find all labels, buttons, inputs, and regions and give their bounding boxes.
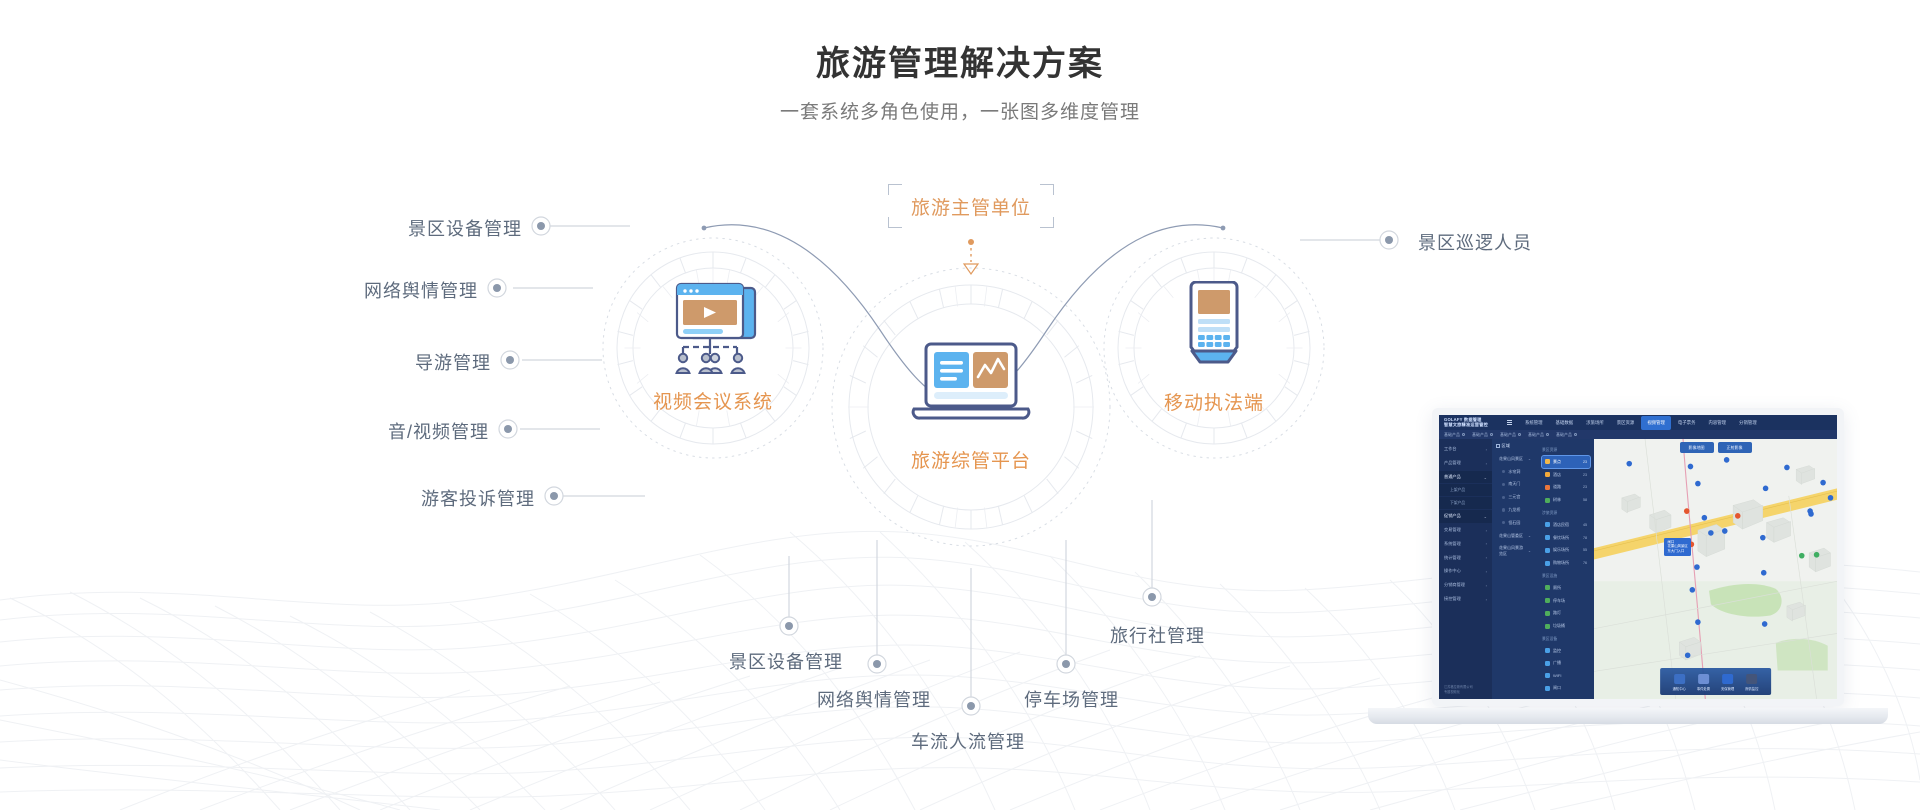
layer-color-icon — [1545, 485, 1550, 490]
tree-leaf[interactable]: 三元宫 — [1496, 491, 1534, 503]
chevron-down-icon[interactable]: ⌄ — [1528, 534, 1531, 538]
layer-group-title: 涉旅资源 — [1542, 511, 1590, 516]
layer-row[interactable]: 酒店23 — [1542, 469, 1590, 481]
tree-leaf[interactable]: 九龙桥 — [1496, 504, 1534, 516]
left-label-4[interactable]: 游客投诉管理 — [343, 485, 535, 511]
tree-node-label: 水帘洞 — [1508, 469, 1520, 475]
map-button-bar[interactable]: 影像地图正射影像 — [1680, 442, 1752, 453]
sidebar-item[interactable]: 上架产品 — [1439, 484, 1492, 496]
close-icon[interactable] — [1462, 433, 1465, 436]
resource-layers-column: 景区资源景点23酒店23道路23树林58涉旅资源酒店民宿45餐饮场所78娱乐场所… — [1538, 439, 1594, 699]
dashboard-tab-label: 基础产品 — [1556, 432, 1572, 438]
region-tree-title: 区域 — [1496, 443, 1534, 449]
layer-color-icon — [1545, 522, 1550, 527]
chevron-right-icon[interactable]: › — [1486, 541, 1487, 546]
sidebar-item[interactable]: 操作中心› — [1439, 565, 1492, 578]
layer-color-icon — [1545, 585, 1550, 590]
layer-row[interactable]: 景点23 — [1542, 456, 1590, 468]
tree-node-label: 九龙桥 — [1508, 507, 1520, 513]
layer-label: 道路 — [1553, 484, 1561, 490]
dashboard-menu-item[interactable]: 电子票务 — [1672, 416, 1702, 430]
layer-count: 45 — [1583, 523, 1587, 527]
dashboard-tab[interactable]: 基础产品 — [1444, 432, 1465, 438]
layer-row[interactable]: 购物场所76 — [1542, 557, 1590, 569]
layer-color-icon — [1545, 673, 1550, 678]
node-mobile-enforcement-label: 移动执法端 — [1164, 388, 1264, 415]
dashboard-tab-label: 基础产品 — [1472, 432, 1488, 438]
tree-group[interactable]: 花果山管委区⌄ — [1496, 530, 1534, 542]
layer-label: 购物场所 — [1553, 560, 1569, 566]
close-icon[interactable] — [1518, 433, 1521, 436]
map-tool-item[interactable]: 舆情监控 — [1745, 674, 1758, 691]
right-label-0[interactable]: 景区巡逻人员 — [1418, 229, 1532, 255]
bottom-label-4[interactable]: 旅行社管理 — [1110, 622, 1205, 648]
layer-label: 餐饮场所 — [1553, 535, 1569, 541]
bottom-label-2[interactable]: 车流人流管理 — [911, 728, 1025, 754]
map-tool-icon — [1746, 674, 1757, 684]
dashboard-tab-label: 基础产品 — [1528, 432, 1544, 438]
layer-color-icon — [1545, 611, 1550, 616]
layer-group-title: 景区设备 — [1542, 637, 1590, 642]
sidebar-item[interactable]: 产品管理› — [1439, 457, 1492, 470]
dashboard-layer-panel: 区域 花果山风景区⌄水帘洞南天门三元宫九龙桥怪石园花果山管委区⌄花果山风景游览区… — [1492, 439, 1594, 699]
authority-box[interactable]: 旅游主管单位 — [888, 184, 1054, 228]
layer-row[interactable]: 垃圾桶 — [1542, 620, 1590, 632]
sidebar-item-label: 产品管理 — [1444, 460, 1461, 466]
layer-label: 垃圾桶 — [1553, 623, 1565, 629]
layer-row[interactable]: 厕所 — [1542, 582, 1590, 594]
tree-node-label: 花果山管委区 — [1499, 533, 1523, 539]
region-tree-column: 区域 花果山风景区⌄水帘洞南天门三元宫九龙桥怪石园花果山管委区⌄花果山风景游览区… — [1492, 439, 1538, 699]
bottom-label-0[interactable]: 景区设备管理 — [729, 648, 843, 674]
layer-row[interactable]: 路灯 — [1542, 608, 1590, 620]
map-layer-button[interactable]: 正射影像 — [1718, 442, 1752, 453]
layer-count: 23 — [1583, 460, 1587, 464]
map-tool-label: 舆情监控 — [1745, 686, 1758, 691]
map-bottom-toolbar[interactable]: 通知中心事件处置安保管理舆情监控 — [1660, 668, 1772, 695]
tree-leaf[interactable]: 水帘洞 — [1496, 466, 1534, 478]
layer-color-icon — [1545, 624, 1550, 629]
layer-label: 广播 — [1553, 660, 1561, 666]
sidebar-item-label: 操作中心 — [1444, 568, 1461, 574]
tree-bullet-icon — [1502, 496, 1505, 499]
node-video-conference-label: 视频会议系统 — [653, 387, 773, 414]
layer-color-icon — [1545, 598, 1550, 603]
grid-icon — [1496, 444, 1500, 448]
sidebar-item[interactable]: 工作台› — [1439, 443, 1492, 456]
layer-color-icon — [1545, 459, 1550, 464]
dashboard-menu-item[interactable]: 景区资源 — [1611, 416, 1641, 430]
hamburger-icon[interactable] — [1507, 420, 1512, 425]
tree-node-label: 花果山风景区 — [1499, 456, 1523, 462]
sidebar-item-label: 促销产品 — [1444, 513, 1461, 519]
sidebar-item-label: 交易管理 — [1444, 527, 1461, 533]
dashboard-tab[interactable]: 基础产品 — [1472, 432, 1493, 438]
tree-bullet-icon — [1502, 483, 1505, 486]
bottom-label-1[interactable]: 网络舆情管理 — [817, 686, 931, 712]
layer-row[interactable]: 娱乐场所55 — [1542, 545, 1590, 557]
sidebar-item[interactable]: 交易管理› — [1439, 524, 1492, 537]
chevron-right-icon[interactable]: › — [1486, 555, 1487, 560]
tree-node-label: 南天门 — [1508, 481, 1520, 487]
node-tourism-platform-label: 旅游综管平台 — [911, 446, 1031, 473]
layer-color-icon — [1545, 535, 1550, 540]
layer-color-icon — [1545, 472, 1550, 477]
layer-count: 76 — [1583, 561, 1587, 565]
tree-group[interactable]: 花果山风景区⌄ — [1496, 453, 1534, 465]
left-label-0[interactable]: 景区设备管理 — [330, 215, 522, 241]
layer-color-icon — [1545, 548, 1550, 553]
chevron-down-icon[interactable]: ⌄ — [1528, 457, 1531, 461]
chevron-right-icon[interactable]: › — [1486, 528, 1487, 533]
sidebar-item-label: 系统管理 — [1444, 541, 1461, 547]
sidebar-item[interactable]: 系统管理› — [1439, 538, 1492, 551]
chevron-down-icon[interactable]: ⌄ — [1484, 514, 1487, 519]
tree-node-label: 花果山风景游览区 — [1499, 545, 1525, 557]
sidebar-item[interactable]: 下架产品 — [1439, 497, 1492, 509]
dashboard-menu-item[interactable]: 系统管理 — [1519, 416, 1549, 430]
left-label-3[interactable]: 音/视频管理 — [297, 418, 489, 444]
map-tool-icon — [1722, 674, 1733, 684]
map-tool-item[interactable]: 安保管理 — [1721, 674, 1734, 691]
node-mobile-enforcement[interactable]: 移动执法端 — [1104, 238, 1324, 458]
laptop-mockup: GOLAFY 数据管理 智慧文旅精准运营管控 系统管理基础数据涉旅场所景区资源视… — [1368, 408, 1888, 768]
dashboard-menu-item[interactable]: 内容管理 — [1702, 416, 1732, 430]
laptop-screen: GOLAFY 数据管理 智慧文旅精准运营管控 系统管理基础数据涉旅场所景区资源视… — [1432, 408, 1844, 706]
dashboard-menu-item[interactable]: 分销管理 — [1733, 416, 1763, 430]
sidebar-item[interactable]: 统计管理› — [1439, 551, 1492, 564]
layer-row[interactable]: 树林58 — [1542, 494, 1590, 506]
sidebar-item-label: 接控管理 — [1444, 596, 1461, 602]
dashboard-logo-line2: 智慧文旅精准运营管控 — [1444, 423, 1502, 428]
layer-label: 酒店 — [1553, 472, 1561, 478]
layer-count: 23 — [1583, 485, 1587, 489]
tree-bullet-icon — [1502, 470, 1505, 473]
dashboard-tab[interactable]: 基础产品 — [1556, 432, 1577, 438]
authority-label: 旅游主管单位 — [888, 184, 1054, 228]
map-tool-label: 通知中心 — [1673, 686, 1686, 691]
map-markers — [1594, 439, 1837, 699]
laptop-dashboard-icon — [908, 341, 1034, 436]
layer-group-title: 景区设施 — [1542, 574, 1590, 579]
layer-label: 监控 — [1553, 648, 1561, 654]
bottom-leader-lines — [780, 500, 1161, 715]
layer-row[interactable]: 道路23 — [1542, 482, 1590, 494]
sidebar-item-label: 普通产品 — [1444, 474, 1461, 480]
chevron-right-icon[interactable]: › — [1486, 583, 1487, 588]
layer-label: 景点 — [1553, 459, 1561, 465]
dashboard-tab[interactable]: 基础产品 — [1500, 432, 1521, 438]
tree-leaf[interactable]: 怪石园 — [1496, 517, 1534, 529]
close-icon[interactable] — [1490, 433, 1493, 436]
left-label-2[interactable]: 导游管理 — [299, 349, 491, 375]
tree-group[interactable]: 花果山风景游览区⌄ — [1496, 543, 1534, 561]
layer-count: 23 — [1583, 473, 1587, 477]
map-tool-label: 事件处置 — [1697, 686, 1710, 691]
map-tool-label: 安保管理 — [1721, 686, 1734, 691]
layer-label: 路灯 — [1553, 610, 1561, 616]
layer-row[interactable]: WIFI — [1542, 670, 1590, 681]
laptop-base — [1368, 708, 1888, 724]
dashboard-menu: 系统管理基础数据涉旅场所景区资源视频管理电子票务内容管理分销管理 — [1519, 416, 1832, 430]
bottom-label-3[interactable]: 停车场管理 — [1024, 686, 1119, 712]
dashboard-tabstrip: 基础产品基础产品基础产品基础产品基础产品 — [1439, 430, 1837, 439]
close-icon[interactable] — [1574, 433, 1577, 436]
layer-row[interactable]: 酒店民宿45 — [1542, 519, 1590, 531]
layer-label: 闸口 — [1553, 685, 1561, 691]
layer-row[interactable]: 闸口 — [1542, 682, 1590, 694]
map-tool-item[interactable]: 通知中心 — [1673, 674, 1686, 691]
arc-endpoint-dot-left — [702, 226, 707, 231]
chevron-down-icon[interactable]: ⌄ — [1528, 549, 1531, 553]
dashboard-menu-item[interactable]: 涉旅场所 — [1580, 416, 1610, 430]
chevron-right-icon[interactable]: › — [1486, 569, 1487, 574]
chevron-right-icon[interactable]: › — [1486, 461, 1487, 466]
layer-label: 酒店民宿 — [1553, 522, 1569, 528]
layer-color-icon — [1545, 661, 1550, 666]
dashboard-tab[interactable]: 基础产品 — [1528, 432, 1549, 438]
chevron-right-icon[interactable]: › — [1486, 597, 1487, 602]
dashboard-topbar: GOLAFY 数据管理 智慧文旅精准运营管控 系统管理基础数据涉旅场所景区资源视… — [1439, 415, 1837, 430]
sidebar-item-label: 上架产品 — [1450, 488, 1465, 493]
sidebar-item[interactable]: 接控管理› — [1439, 593, 1492, 606]
layer-row[interactable]: 餐饮场所78 — [1542, 532, 1590, 544]
tree-bullet-icon — [1502, 521, 1505, 524]
layer-count: 78 — [1583, 536, 1587, 540]
layer-color-icon — [1545, 561, 1550, 566]
close-icon[interactable] — [1546, 433, 1549, 436]
sidebar-item-label: 工作台 — [1444, 446, 1457, 452]
layer-label: 娱乐场所 — [1553, 547, 1569, 553]
layer-row[interactable]: 停车场 — [1542, 595, 1590, 607]
sidebar-item-label: 下架产品 — [1450, 501, 1465, 506]
layer-color-icon — [1545, 498, 1550, 503]
dashboard-tab-label: 基础产品 — [1500, 432, 1516, 438]
dashboard-logo: GOLAFY 数据管理 智慧文旅精准运营管控 — [1444, 418, 1502, 428]
dashboard-body: 工作台›产品管理›普通产品⌄上架产品下架产品促销产品⌄交易管理›系统管理›统计管… — [1439, 439, 1837, 699]
left-label-1[interactable]: 网络舆情管理 — [286, 277, 478, 303]
tree-leaf[interactable]: 南天门 — [1496, 479, 1534, 491]
sidebar-item[interactable]: 普通产品⌄ — [1439, 471, 1492, 484]
sidebar-item-label: 分销商管理 — [1444, 582, 1465, 588]
sidebar-item-label: 统计管理 — [1444, 555, 1461, 561]
sidebar-item[interactable]: 分销商管理› — [1439, 579, 1492, 592]
dashboard-menu-item[interactable]: 基础数据 — [1550, 416, 1580, 430]
chevron-down-icon[interactable]: ⌄ — [1484, 475, 1487, 480]
solution-infographic-page: 旅游管理解决方案 一套系统多角色使用，一张图多维度管理 — [0, 0, 1920, 810]
video-conference-icon — [659, 282, 767, 379]
layer-color-icon — [1545, 648, 1550, 653]
chevron-right-icon[interactable]: › — [1486, 447, 1487, 452]
dashboard-app: GOLAFY 数据管理 智慧文旅精准运营管控 系统管理基础数据涉旅场所景区资源视… — [1439, 415, 1837, 699]
sidebar-item[interactable]: 促销产品⌄ — [1439, 510, 1492, 523]
layer-count: 55 — [1583, 548, 1587, 552]
tree-bullet-icon — [1502, 508, 1505, 511]
sidebar-footer: 江苏格拉斯有限公司专题视频化 — [1439, 681, 1492, 699]
map-tag-line: 东大门入口 — [1667, 549, 1687, 554]
map-tool-icon — [1674, 674, 1685, 684]
dashboard-menu-item[interactable]: 视频管理 — [1641, 416, 1671, 430]
node-video-conference[interactable]: 视频会议系统 — [603, 238, 823, 458]
layer-row[interactable]: 监控 — [1542, 645, 1590, 657]
map-tool-item[interactable]: 事件处置 — [1697, 674, 1710, 691]
authority-arrow-connector — [964, 239, 978, 274]
mobile-terminal-icon — [1183, 281, 1245, 378]
tree-node-label: 怪石园 — [1508, 520, 1520, 526]
layer-row[interactable]: 广播 — [1542, 658, 1590, 670]
node-tourism-platform[interactable]: 旅游综管平台 — [846, 282, 1096, 532]
layer-label: 厕所 — [1553, 585, 1561, 591]
layer-label: 树林 — [1553, 497, 1561, 503]
map-location-tag: 闸口花果山风景区东大门入口 — [1664, 538, 1690, 556]
dashboard-map[interactable]: 影像地图正射影像 闸口花果山风景区东大门入口 通知中心事件处置安保管理舆情监控 — [1594, 439, 1837, 699]
layer-count: 58 — [1583, 498, 1587, 502]
tree-node-label: 三元宫 — [1508, 494, 1520, 500]
map-tool-icon — [1698, 674, 1709, 684]
map-layer-button[interactable]: 影像地图 — [1680, 442, 1714, 453]
layer-group-title: 景区资源 — [1542, 448, 1590, 453]
layer-label: 停车场 — [1553, 598, 1565, 604]
layer-label: WIFI — [1553, 673, 1561, 678]
arc-endpoint-dot-right — [1221, 226, 1226, 231]
dashboard-tab-label: 基础产品 — [1444, 432, 1460, 438]
dashboard-sidebar: 工作台›产品管理›普通产品⌄上架产品下架产品促销产品⌄交易管理›系统管理›统计管… — [1439, 439, 1492, 699]
layer-color-icon — [1545, 686, 1550, 691]
